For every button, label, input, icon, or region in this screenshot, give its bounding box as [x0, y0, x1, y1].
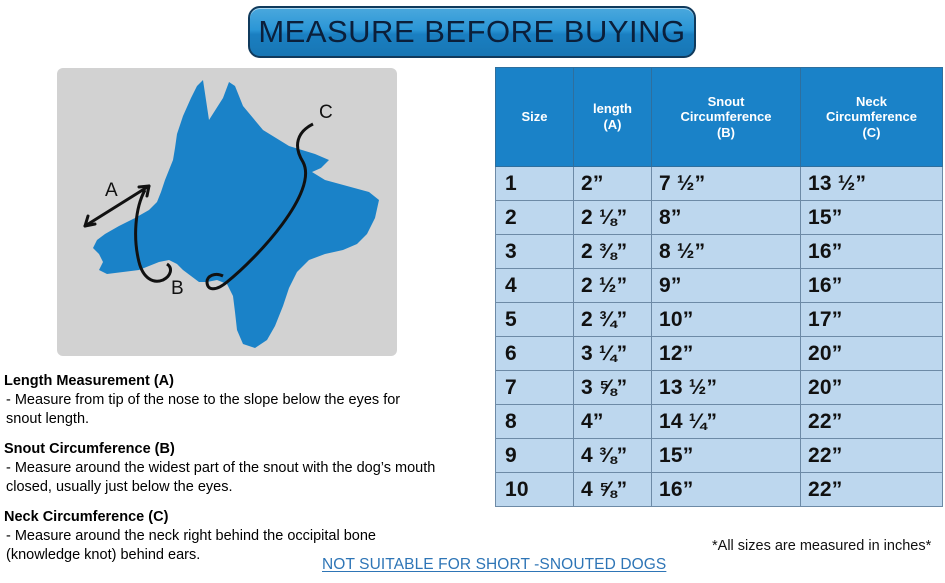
snout-value: 9”	[652, 269, 801, 303]
snout-value: 7 ½”	[652, 167, 801, 201]
table-row: 84”14 ¼”22”	[496, 405, 943, 439]
label-a: A	[105, 180, 118, 201]
column-header-length: length (A)	[574, 68, 652, 167]
snout-value: 8”	[652, 201, 801, 235]
neck-value: 16”	[801, 269, 943, 303]
snout-value: 15”	[652, 439, 801, 473]
page-title: MEASURE BEFORE BUYING	[258, 14, 685, 50]
snout-value: 14 ¼”	[652, 405, 801, 439]
neck-value: 20”	[801, 371, 943, 405]
size-value: 10	[496, 473, 574, 507]
measurement-instructions: Length Measurement (A) - Measure from ti…	[4, 372, 496, 575]
table-header-row: Size length (A) Snout Circumference (B) …	[496, 68, 943, 167]
table-row: 94 ⅜”15”22”	[496, 439, 943, 473]
size-value: 3	[496, 235, 574, 269]
table-row: 42 ½”9”16”	[496, 269, 943, 303]
neck-value: 22”	[801, 473, 943, 507]
size-value: 6	[496, 337, 574, 371]
table-row: 63 ¼”12”20”	[496, 337, 943, 371]
instruction-heading: Snout Circumference (B)	[4, 440, 496, 458]
length-value: 2 ½”	[574, 269, 652, 303]
length-value: 3 ¼”	[574, 337, 652, 371]
length-value: 4 ⅜”	[574, 439, 652, 473]
size-value: 4	[496, 269, 574, 303]
label-c: C	[319, 102, 333, 123]
dog-head-illustration: A B C	[57, 68, 397, 356]
length-value: 2 ⅜”	[574, 235, 652, 269]
size-value: 9	[496, 439, 574, 473]
length-value: 2 ⅛”	[574, 201, 652, 235]
size-value: 5	[496, 303, 574, 337]
snout-value: 16”	[652, 473, 801, 507]
column-header-size: Size	[496, 68, 574, 167]
table-row: 12”7 ½”13 ½”	[496, 167, 943, 201]
column-header-neck-circumference: Neck Circumference (C)	[801, 68, 943, 167]
table-row: 32 ⅜”8 ½”16”	[496, 235, 943, 269]
snout-value: 13 ½”	[652, 371, 801, 405]
not-suitable-warning: NOT SUITABLE FOR SHORT -SNOUTED DOGS	[322, 556, 666, 574]
table-row: 104 ⅝”16”22”	[496, 473, 943, 507]
units-note: *All sizes are measured in inches*	[712, 538, 931, 554]
instruction-block-length: Length Measurement (A) - Measure from ti…	[4, 372, 496, 429]
dog-measurement-diagram: A B C	[57, 68, 397, 356]
snout-value: 8 ½”	[652, 235, 801, 269]
instruction-body: - Measure from tip of the nose to the sl…	[4, 391, 496, 429]
table-row: 73 ⅝”13 ½”20”	[496, 371, 943, 405]
instruction-body: - Measure around the widest part of the …	[4, 459, 496, 497]
neck-value: 15”	[801, 201, 943, 235]
length-value: 2 ¾”	[574, 303, 652, 337]
neck-value: 13 ½”	[801, 167, 943, 201]
snout-value: 10”	[652, 303, 801, 337]
column-header-snout-circumference: Snout Circumference (B)	[652, 68, 801, 167]
table-row: 22 ⅛”8”15”	[496, 201, 943, 235]
length-value: 3 ⅝”	[574, 371, 652, 405]
size-chart-body: 12”7 ½”13 ½”22 ⅛”8”15”32 ⅜”8 ½”16”42 ½”9…	[496, 167, 943, 507]
snout-value: 12”	[652, 337, 801, 371]
size-value: 2	[496, 201, 574, 235]
title-banner: MEASURE BEFORE BUYING	[248, 6, 696, 58]
length-value: 2”	[574, 167, 652, 201]
instruction-heading: Length Measurement (A)	[4, 372, 496, 390]
neck-value: 16”	[801, 235, 943, 269]
size-value: 7	[496, 371, 574, 405]
instruction-block-snout: Snout Circumference (B) - Measure around…	[4, 440, 496, 497]
length-value: 4”	[574, 405, 652, 439]
instruction-heading: Neck Circumference (C)	[4, 508, 496, 526]
size-value: 8	[496, 405, 574, 439]
size-chart-table: Size length (A) Snout Circumference (B) …	[495, 67, 943, 507]
neck-value: 22”	[801, 439, 943, 473]
length-value: 4 ⅝”	[574, 473, 652, 507]
table-row: 52 ¾”10”17”	[496, 303, 943, 337]
size-value: 1	[496, 167, 574, 201]
neck-value: 17”	[801, 303, 943, 337]
neck-value: 20”	[801, 337, 943, 371]
label-b: B	[171, 278, 184, 299]
neck-value: 22”	[801, 405, 943, 439]
